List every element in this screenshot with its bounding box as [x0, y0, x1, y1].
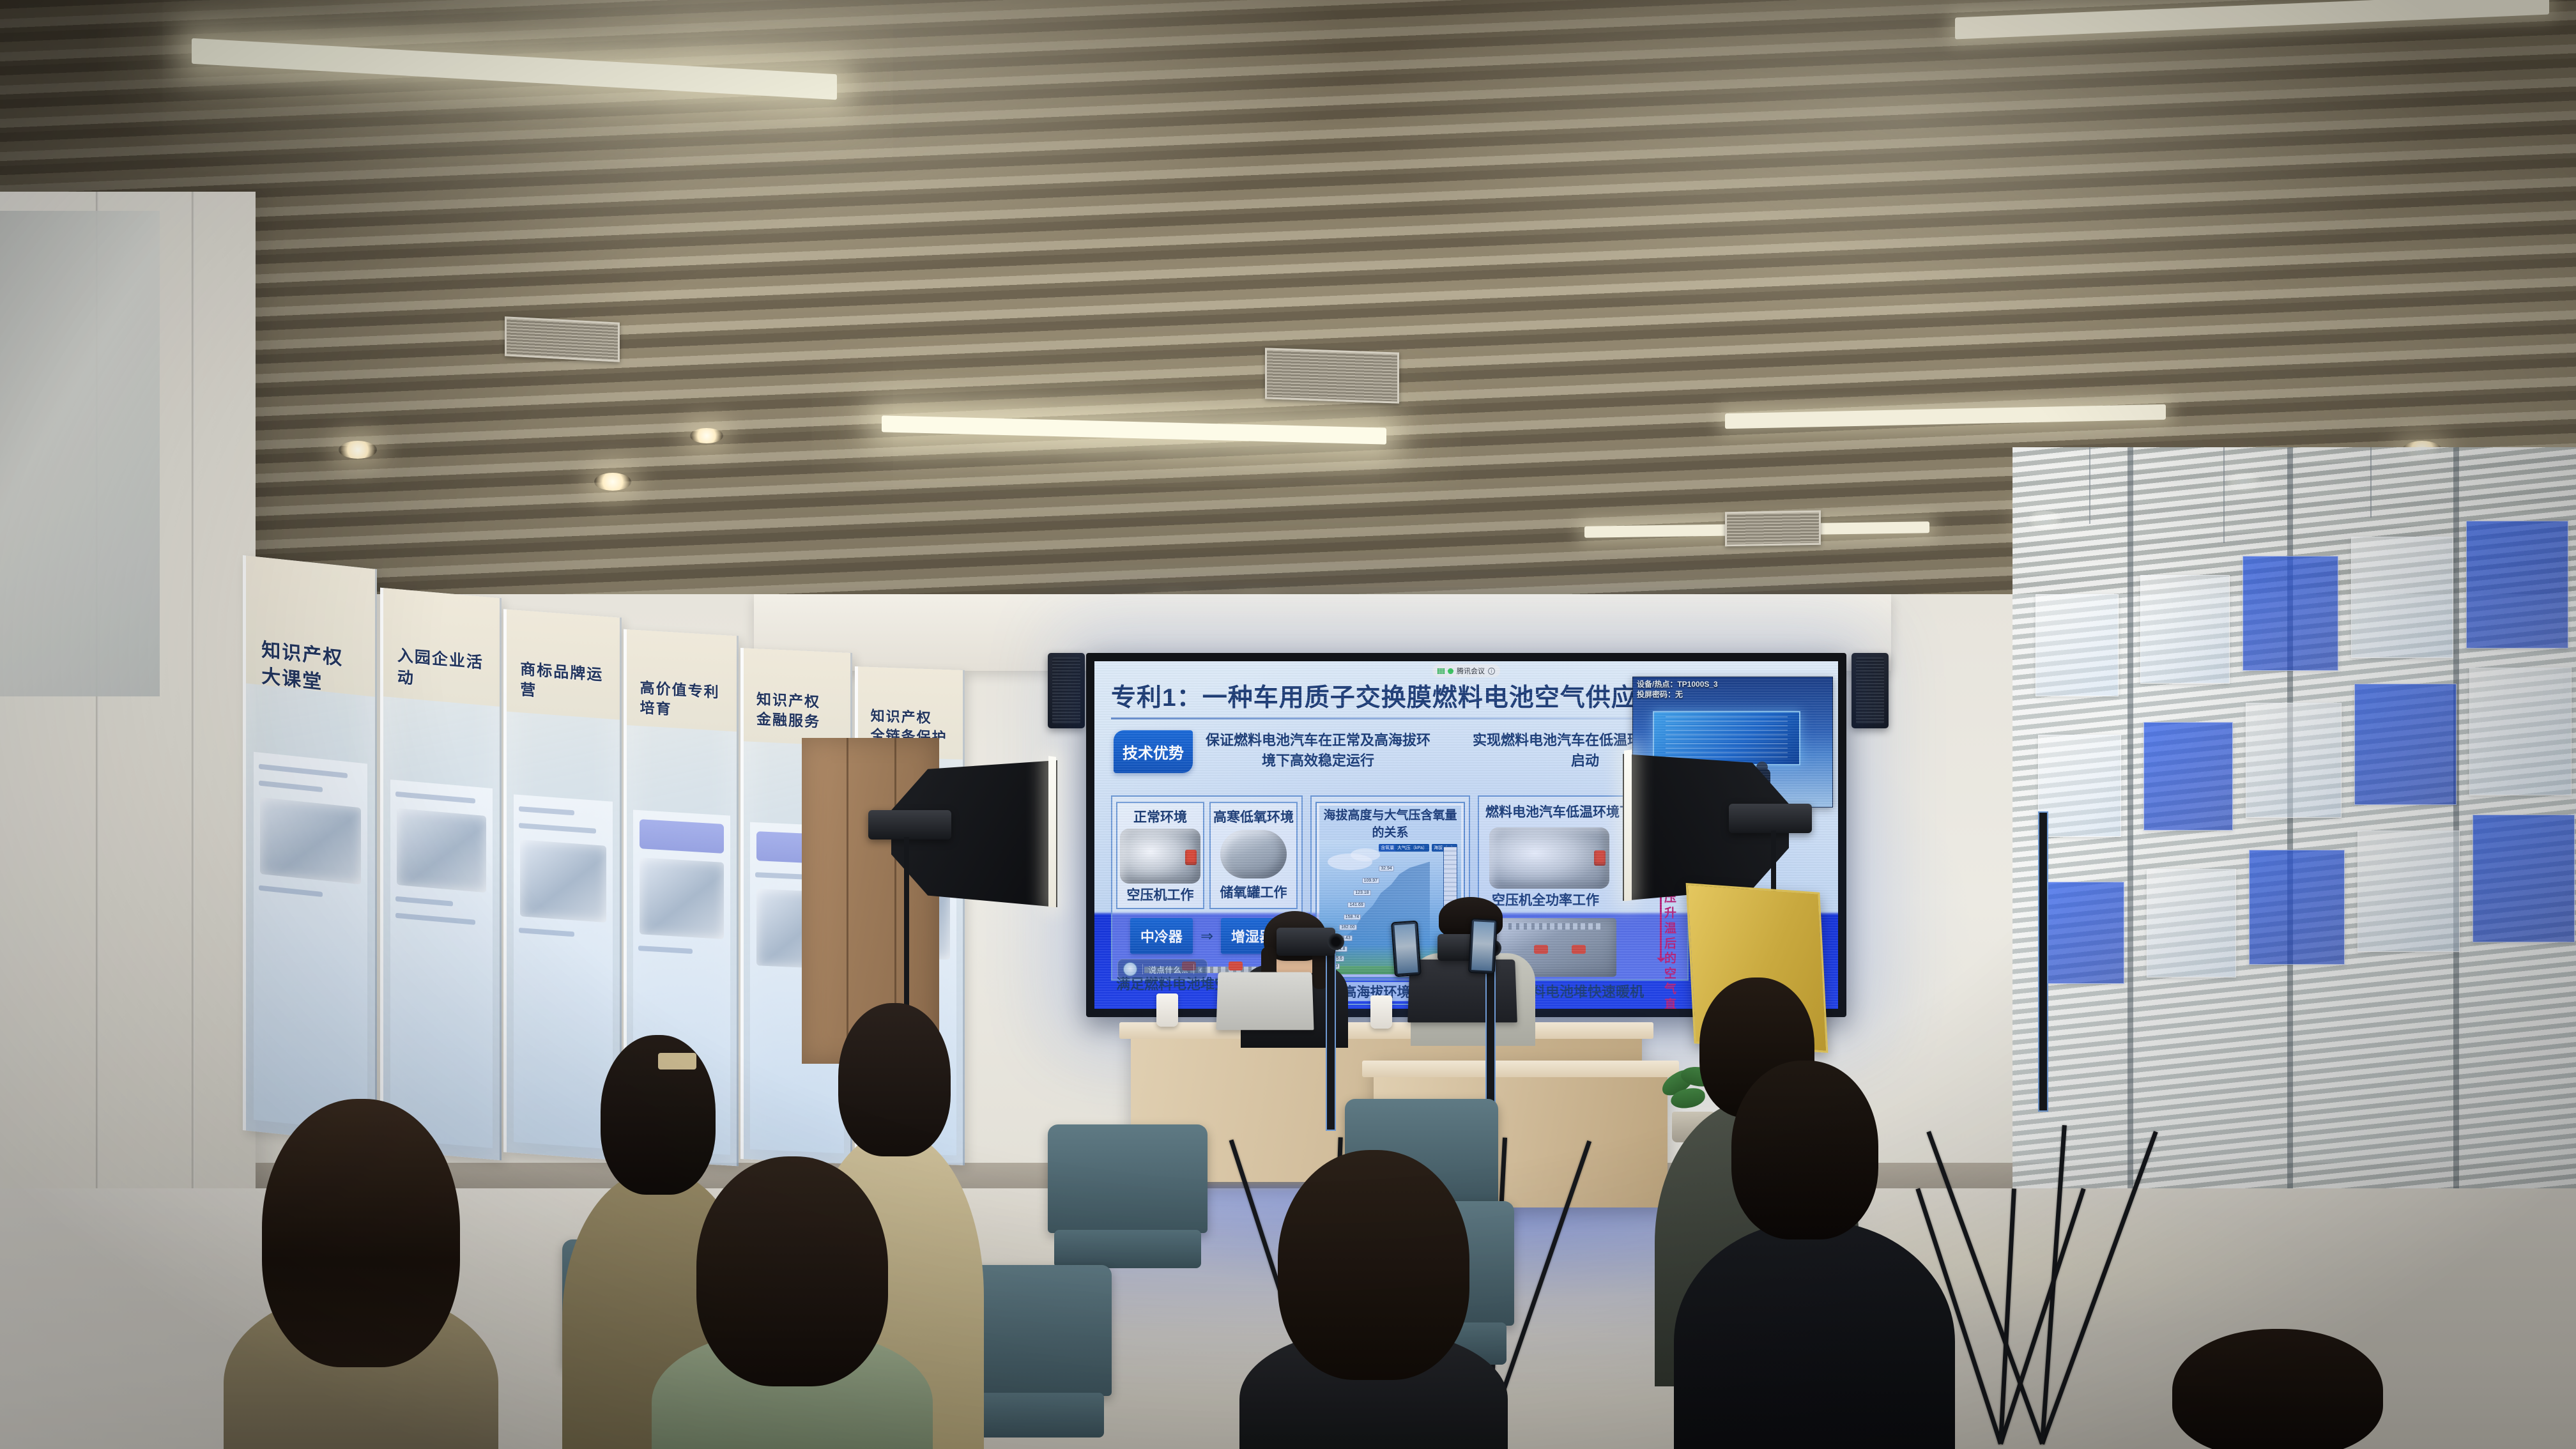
sub-card-cold: 高寒低氧环境 储氧罐工作	[1209, 802, 1298, 909]
sub-card-normal-footer: 空压机工作	[1120, 885, 1200, 904]
audience-person	[2172, 1329, 2383, 1449]
pip-device-line2: 投屏密码：无	[1637, 689, 1718, 700]
audience-hair	[696, 1156, 888, 1386]
advantage-text-1: 保证燃料电池汽车在正常及高海拔环境下高效稳定运行	[1203, 730, 1433, 771]
sub-card-cold-header: 高寒低氧环境	[1213, 807, 1294, 826]
advantage-badge: 技术优势	[1114, 730, 1193, 773]
air-compressor-image	[1120, 829, 1200, 884]
oxygen-tank-image	[1220, 830, 1286, 878]
slide-assistant-bar[interactable]: 说点什么... ‹	[1117, 959, 1207, 979]
ceiling-air-vent	[1265, 348, 1399, 403]
intercooler-box: 中冷器	[1130, 918, 1193, 954]
ceiling-downlight	[690, 428, 723, 443]
ip-panel-title-line2: 金融服务	[756, 709, 838, 733]
audience-shoulders	[1674, 1220, 1955, 1449]
audience-person	[1239, 1150, 1508, 1449]
ceiling-downlight	[339, 441, 377, 459]
sub-card-normal: 正常环境 空压机工作	[1116, 802, 1204, 909]
assistant-avatar-icon	[1123, 962, 1137, 976]
pip-device-line1: 设备/热点：TP1000S_3	[1637, 679, 1718, 689]
ip-panel-title-line1: 商标品牌运营	[520, 659, 606, 707]
ip-panel-title-line1: 高价值专利培育	[640, 678, 724, 723]
audience-hair	[1278, 1150, 1469, 1380]
audience-hair	[262, 1099, 460, 1367]
ceiling-air-vent	[505, 316, 620, 362]
audience-person	[1674, 1061, 1955, 1449]
pip-device-info: 设备/热点：TP1000S_3 投屏密码：无	[1637, 679, 1718, 700]
video-camera-left[interactable]	[1276, 928, 1335, 956]
air-compressor-full-power-image	[1489, 827, 1609, 889]
sub-card-normal-header: 正常环境	[1120, 807, 1200, 826]
audience-person	[224, 1099, 498, 1449]
wall-speaker-left	[1048, 653, 1085, 728]
audience-hair	[1731, 1061, 1878, 1239]
assistant-input-placeholder[interactable]: 说点什么...	[1148, 963, 1188, 976]
phone-on-rig-right[interactable]	[1468, 918, 1498, 974]
sub-card-cold-footer: 储氧罐工作	[1213, 882, 1294, 901]
paper-cup	[1156, 993, 1178, 1027]
conference-room-photo: ← 知识产权 大课堂 入园企业活动 商标品牌运营	[0, 0, 2576, 1449]
ip-panel-title-line1: 知识产权	[871, 707, 951, 728]
phone-on-rig-left[interactable]	[1391, 921, 1422, 977]
ip-wall-panel: 知识产权 大课堂	[243, 555, 377, 1144]
flow-arrow-icon: ⇒	[1200, 927, 1213, 946]
wall-glass-panel	[0, 211, 160, 696]
audience-hair	[2172, 1329, 2383, 1449]
ceiling-downlight	[594, 473, 631, 491]
wall-speaker-right	[1851, 653, 1889, 728]
altitude-chart-title: 海拔高度与大气压含氧量的关系	[1319, 806, 1461, 840]
ip-panel-title-line1: 入园企业活动	[397, 645, 486, 696]
ceiling-air-vent	[1725, 510, 1821, 547]
audience-person	[652, 1156, 933, 1449]
collapse-chevron-icon[interactable]: ‹	[1199, 965, 1202, 974]
ip-wall-panel: 入园企业活动	[380, 588, 502, 1161]
audience-hair	[838, 1003, 951, 1156]
